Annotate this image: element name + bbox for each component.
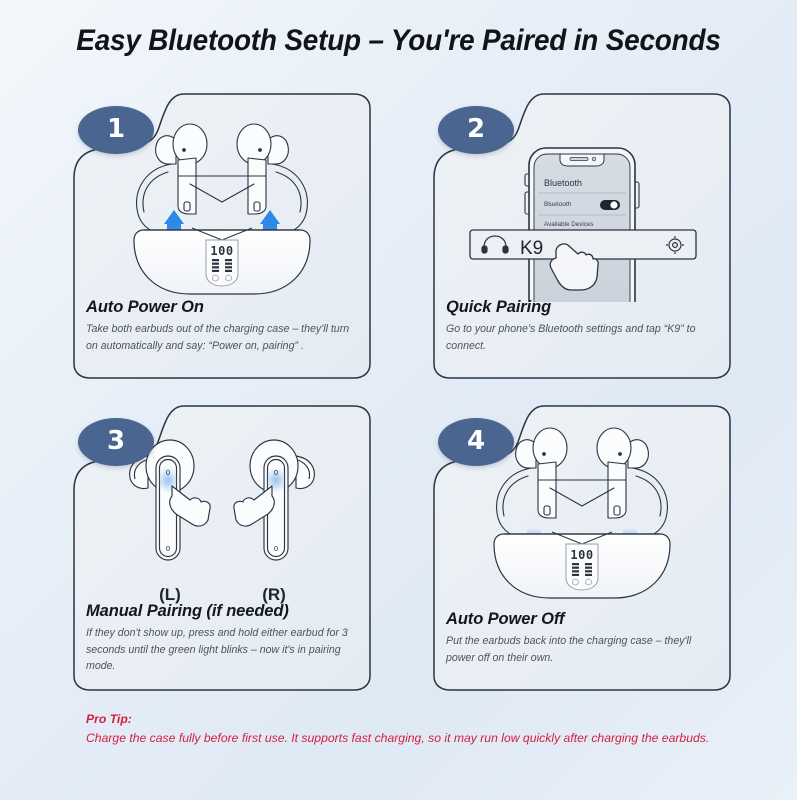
- k9-device-name: K9: [520, 238, 543, 259]
- step-number-badge: 3: [78, 418, 154, 466]
- step-heading: Quick Pairing: [446, 298, 722, 316]
- case-battery-display: 100: [566, 544, 598, 590]
- svg-text:100: 100: [210, 244, 233, 258]
- steps-grid: 1: [72, 92, 732, 692]
- svg-text:0: 0: [274, 545, 278, 553]
- step-number-badge: 2: [438, 106, 514, 154]
- infographic-sheet: Easy Bluetooth Setup – You're Paired in …: [0, 0, 797, 800]
- step-body: Take both earbuds out of the charging ca…: [86, 321, 362, 354]
- step-body: Put the earbuds back into the charging c…: [446, 633, 722, 666]
- phone-toggle-label: Bluetooth: [544, 201, 572, 208]
- case-battery-display: 100: [206, 240, 238, 286]
- svg-text:100: 100: [570, 548, 593, 562]
- step-body: Go to your phone’s Bluetooth settings an…: [446, 321, 722, 354]
- pro-tip-section: Pro Tip: Charge the case fully before fi…: [86, 712, 726, 749]
- step-number-badge: 4: [438, 418, 514, 466]
- step-card-2: 2: [432, 92, 732, 380]
- page-title: Easy Bluetooth Setup – You're Paired in …: [28, 24, 769, 58]
- step-body: If they don't show up, press and hold ei…: [86, 625, 362, 674]
- step-card-1: 1: [72, 92, 372, 380]
- step-heading: Manual Pairing (if needed): [86, 602, 362, 620]
- step-card-3: 3: [72, 404, 372, 692]
- available-devices-label: Available Devices: [544, 221, 594, 228]
- step-number-badge: 1: [78, 106, 154, 154]
- svg-text:0: 0: [274, 469, 278, 477]
- phone-screen-title: Bluetooth: [544, 178, 582, 188]
- bluetooth-toggle-switch: [600, 200, 620, 210]
- step-card-4: 4: [432, 404, 732, 692]
- svg-text:0: 0: [166, 545, 170, 553]
- step-heading: Auto Power On: [86, 298, 362, 316]
- svg-text:0: 0: [166, 469, 170, 477]
- step-heading: Auto Power Off: [446, 610, 722, 628]
- pro-tip-label: Pro Tip:: [86, 712, 726, 726]
- pro-tip-text: Charge the case fully before first use. …: [86, 729, 726, 749]
